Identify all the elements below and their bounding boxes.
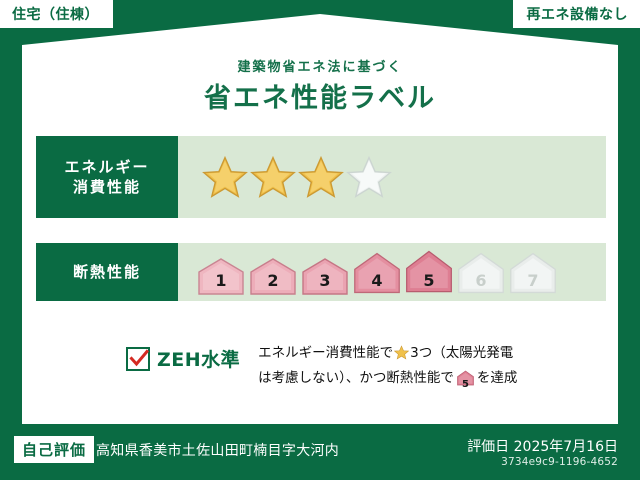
star-2 [250,155,296,199]
label-title: 省エネ性能ラベル [0,76,640,115]
zeh-description-line2: は考慮しない）、かつ断熱性能で5を達成 [258,368,517,394]
insulation-grade-4: 4 [352,249,402,297]
insulation-grade-4-value: 4 [352,271,402,290]
insulation-label-line1: 断熱性能 [73,262,141,282]
insulation-grade-3-value: 3 [300,271,350,290]
zeh-checkbox[interactable] [126,347,150,371]
evaluation-date: 評価日 2025年7月16日 [467,436,618,456]
insulation-grade-2-value: 2 [248,271,298,290]
label-subtitle: 建築物省エネ法に基づく [0,56,640,75]
zeh-description-line1: エネルギー消費性能で3つ（太陽光発電 [258,343,517,368]
self-evaluation-badge: 自己評価 [14,436,94,463]
insulation-grade-5: 5 [404,247,454,297]
star-icon [298,155,344,199]
insulation-grade-6: 6 [456,249,506,297]
zeh-desc-line1-text-b: 3つ（太陽光発電 [410,345,513,361]
zeh-desc-line2-text-b: を達成 [477,370,518,386]
insulation-grade-2: 2 [248,255,298,297]
star-icon [250,155,296,199]
zeh-description: エネルギー消費性能で3つ（太陽光発電 は考慮しない）、かつ断熱性能で5を達成 [258,343,517,394]
star-4 [346,155,392,199]
energy-performance-label: エネルギー 消費性能 [36,136,178,218]
insulation-grade-6-value: 6 [456,271,506,290]
inline-star-icon [394,345,409,368]
star-1 [202,155,248,199]
star-3 [298,155,344,199]
insulation-grade-scale: 1 2 3 [196,247,558,297]
renewable-equipment-tab: 再エネ設備なし [513,0,640,28]
evaluation-id: 3734e9c9-1196-4652 [501,456,618,468]
zeh-standard-label: ZEH水準 [157,345,240,372]
insulation-performance-label: 断熱性能 [36,243,178,301]
property-address: 高知県香美市土佐山田町楠目字大河内 [96,440,339,460]
insulation-grade-7-value: 7 [508,271,558,290]
zeh-desc-line1-text-a: エネルギー消費性能で [258,345,393,361]
inline-grade-value: 5 [456,377,475,393]
insulation-performance-row: 断熱性能 1 2 [36,243,606,301]
inline-grade-icon: 5 [456,370,475,394]
star-icon [346,155,392,199]
insulation-grade-1: 1 [196,255,246,297]
insulation-grade-7: 7 [508,249,558,297]
star-icon [202,155,248,199]
checkmark-icon [129,349,149,369]
energy-label-line1: エネルギー [64,157,149,177]
label-footer: 自己評価 高知県香美市土佐山田町楠目字大河内 評価日 2025年7月16日 37… [0,430,640,480]
energy-stars-container [178,136,606,218]
insulation-grade-5-value: 5 [404,271,454,290]
energy-label-card: 住宅（住棟） 再エネ設備なし 建築物省エネ法に基づく 省エネ性能ラベル エネルギ… [0,0,640,480]
insulation-grades-container: 1 2 3 [178,243,606,301]
zeh-desc-line2-text-a: は考慮しない）、かつ断熱性能で [258,370,454,386]
insulation-grade-3: 3 [300,255,350,297]
energy-label-line2: 消費性能 [73,177,141,197]
zeh-standard-block: ZEH水準 エネルギー消費性能で3つ（太陽光発電 は考慮しない）、かつ断熱性能で… [126,343,517,394]
building-type-tab: 住宅（住棟） [0,0,113,28]
insulation-grade-1-value: 1 [196,271,246,290]
energy-performance-row: エネルギー 消費性能 [36,136,606,218]
